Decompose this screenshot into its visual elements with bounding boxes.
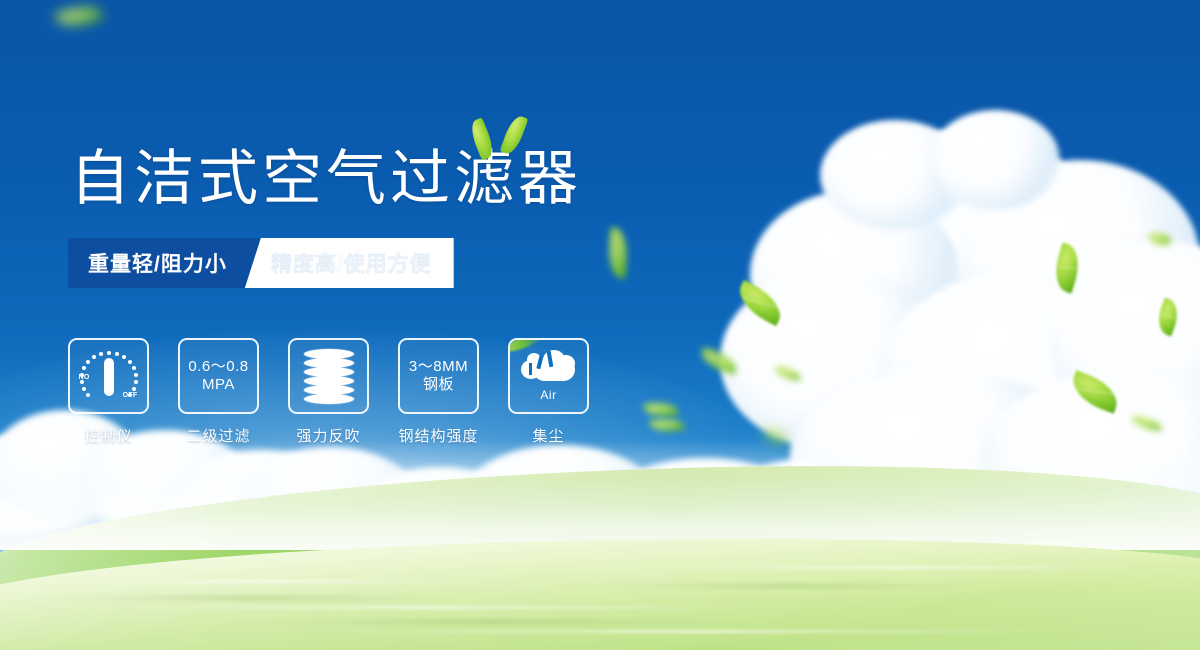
floating-leaf	[643, 400, 678, 418]
grass-streak	[0, 580, 520, 583]
feature-item-pressure[interactable]: 0.6～0.8 MPA 二级过滤	[180, 338, 257, 446]
subtitle-right-chip: 精度高/使用方便	[245, 238, 454, 288]
air-cloud-icon	[521, 351, 577, 387]
product-banner: 自洁式空气过滤器 重量轻/阻力小 精度高/使用方便	[0, 0, 1200, 650]
gauge-dial-icon: NO OFF	[81, 350, 137, 402]
feature-item-control-gauge[interactable]: NO OFF 控制仪	[70, 338, 147, 446]
feature-label: 集尘	[532, 425, 564, 446]
grass-shadow-streak	[40, 596, 460, 600]
subtitle-left-chip: 重量轻/阻力小	[68, 238, 261, 288]
feature-icon-box: 0.6～0.8 MPA	[178, 338, 259, 414]
gauge-label-off: OFF	[123, 392, 138, 399]
pressure-value-line1: 0.6～0.8	[188, 358, 248, 376]
subtitle-right-label: 精度高/使用方便	[271, 248, 432, 278]
gauge-label-no: NO	[79, 374, 90, 381]
steel-plate-line1: 3～8MM	[409, 358, 468, 376]
gauge-needle	[104, 358, 114, 396]
pressure-value-line2: MPA	[202, 376, 235, 394]
floating-leaf	[54, 0, 104, 33]
grass-streak	[300, 630, 1100, 633]
feature-icon-box	[288, 338, 369, 414]
sprout-leaf-right	[500, 113, 529, 156]
two-leaf-sprout-icon	[470, 113, 536, 165]
feature-icon-box: Air	[508, 338, 589, 414]
feature-item-dust-collection[interactable]: Air 集尘	[510, 338, 587, 446]
feature-label: 强力反吹	[296, 425, 360, 446]
filter-stack-icon	[304, 349, 354, 403]
subtitle-left-label: 重量轻/阻力小	[88, 248, 227, 278]
air-label: Air	[540, 388, 556, 402]
feature-label: 钢结构强度	[399, 425, 479, 446]
feature-icon-box: NO OFF	[68, 338, 149, 414]
feature-label: 二级过滤	[186, 425, 250, 446]
sprout-leaf-left	[467, 117, 497, 160]
feature-icon-box: 3～8MM 钢板	[398, 338, 479, 414]
steel-plate-line2: 钢板	[423, 376, 454, 394]
subtitle-bar: 重量轻/阻力小 精度高/使用方便	[68, 238, 454, 288]
grass-shadow-streak	[240, 620, 740, 624]
feature-item-backblow[interactable]: 强力反吹	[290, 338, 367, 446]
grass-shadow-streak	[600, 584, 980, 588]
feature-list: NO OFF 控制仪 0.6～0.8 MPA 二级过滤	[70, 338, 587, 446]
horizon-haze	[0, 440, 1200, 550]
floating-leaf	[649, 416, 685, 435]
grass-streak	[620, 566, 1180, 569]
grass-streak	[80, 606, 780, 609]
floating-leaf	[605, 227, 630, 279]
feature-label: 控制仪	[84, 425, 132, 446]
feature-item-steel[interactable]: 3～8MM 钢板 钢结构强度	[400, 338, 477, 446]
